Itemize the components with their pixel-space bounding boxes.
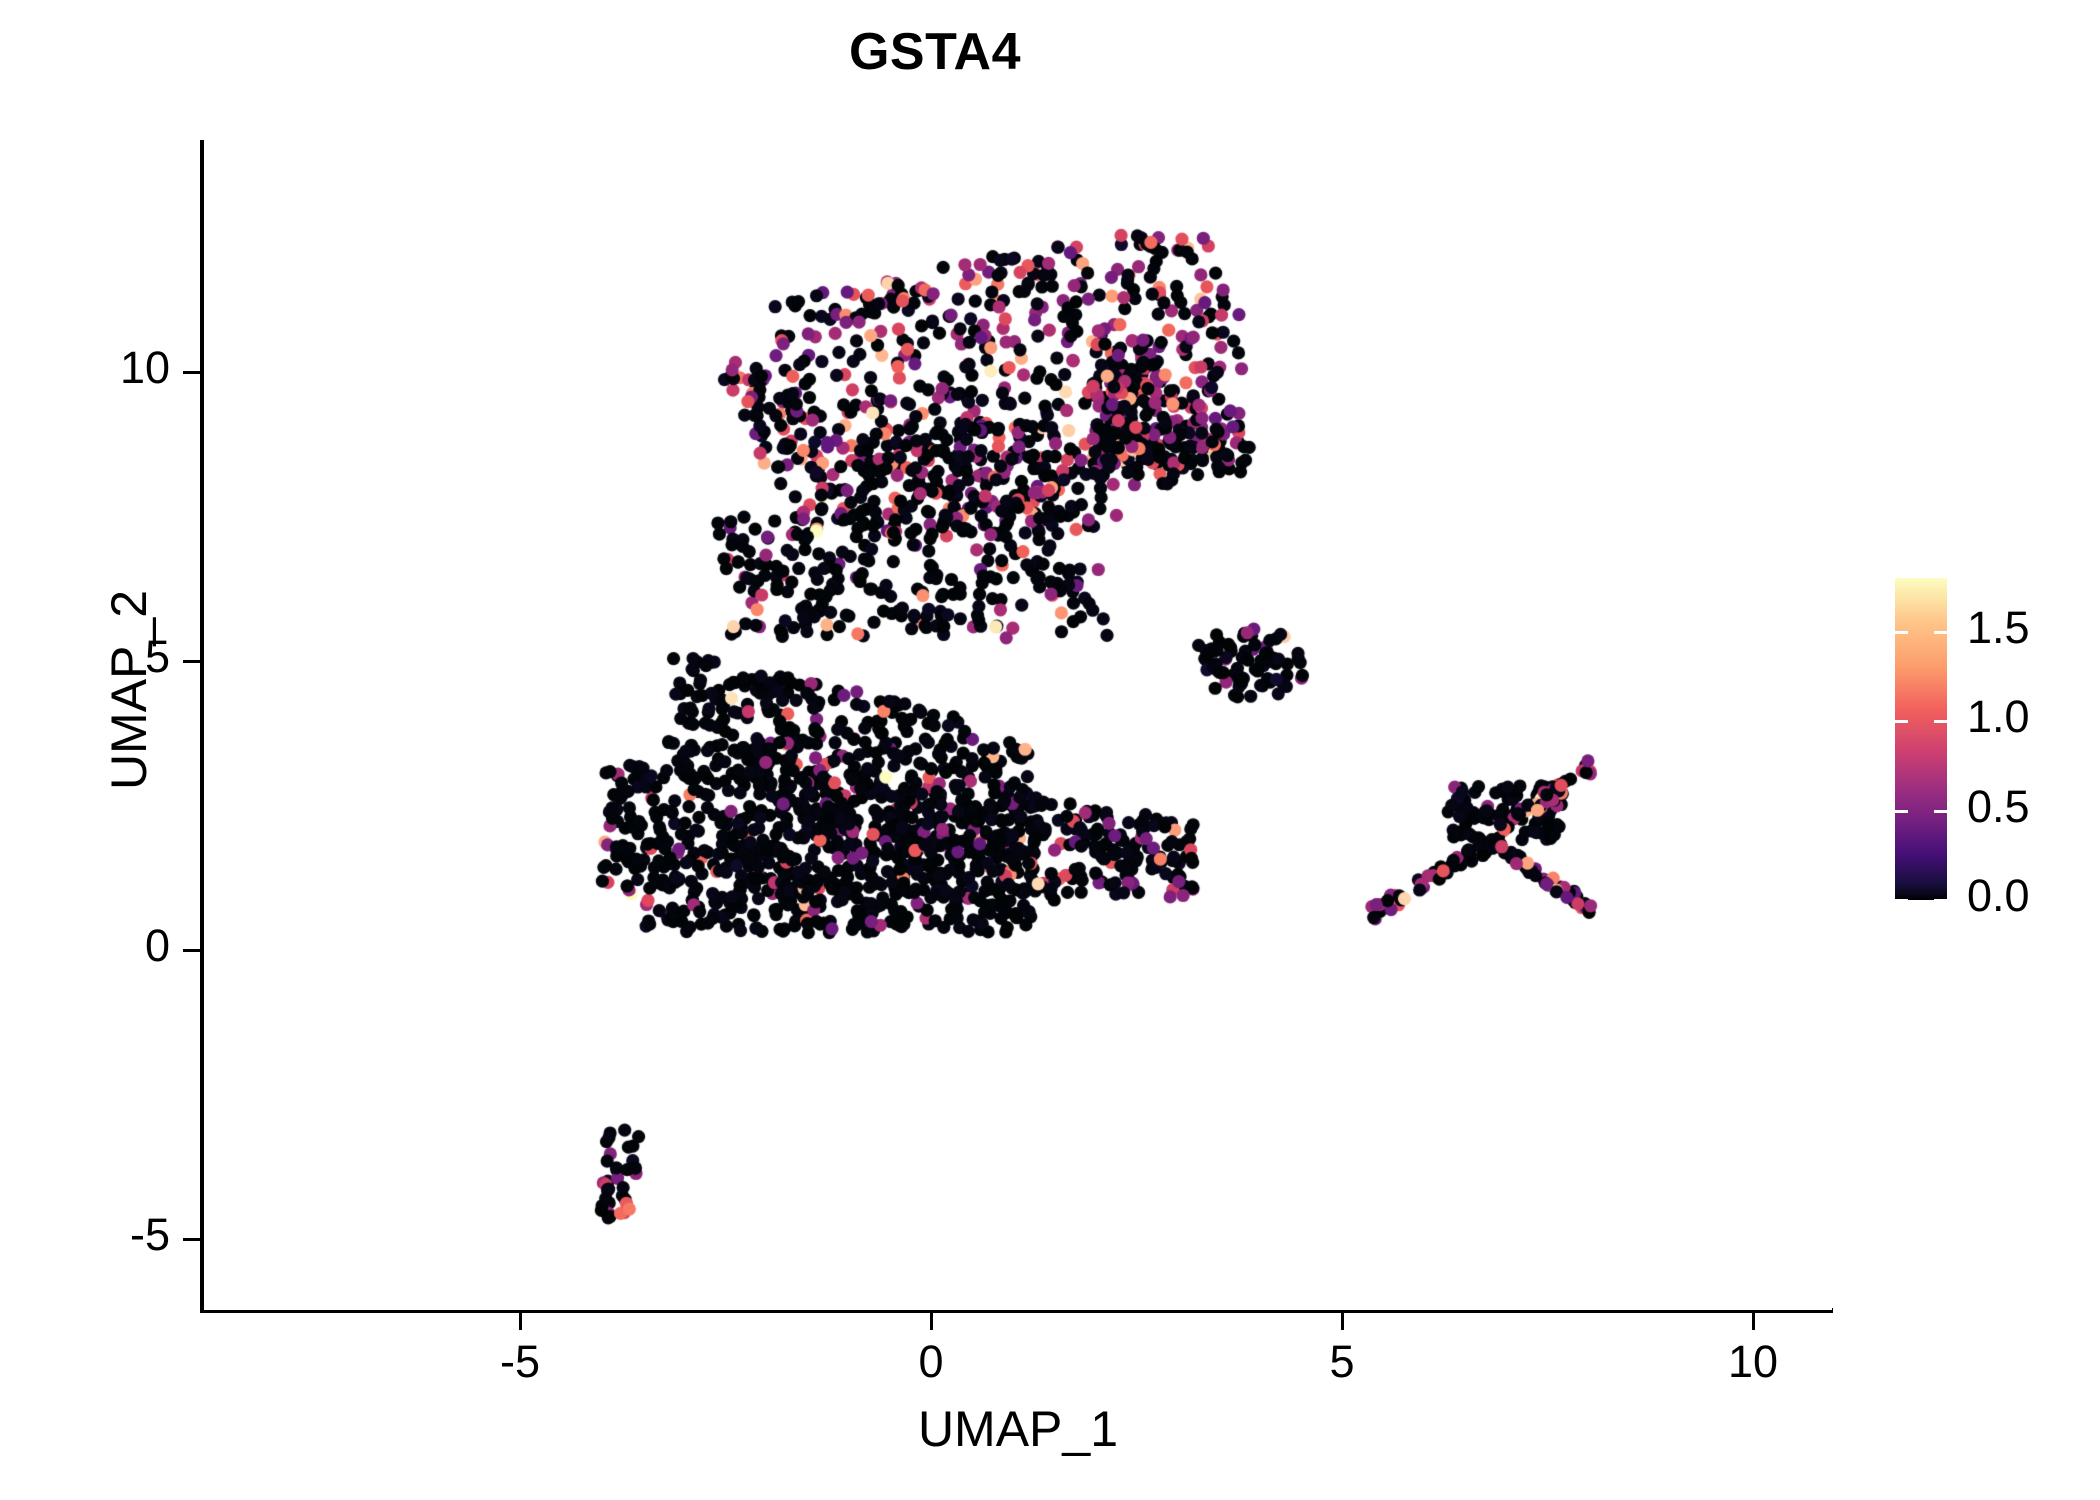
scatter-points-layer	[204, 140, 1832, 1310]
y-tick-mark	[183, 949, 200, 952]
colorbar-gradient	[1895, 578, 1947, 900]
plot-panel	[204, 140, 1832, 1310]
y-tick-label: -5	[0, 1209, 170, 1261]
y-axis-label: UMAP_2	[100, 290, 158, 1090]
x-tick-label: 0	[851, 1336, 1011, 1388]
colorbar-tick-mark	[1934, 899, 1947, 902]
x-tick-label: 15	[2084, 1336, 2100, 1388]
colorbar-tick-label: 0.5	[1967, 781, 2097, 833]
colorbar-tick-mark	[1895, 720, 1908, 723]
x-axis-label: UMAP_1	[204, 1400, 1832, 1458]
colorbar-tick-mark	[1895, 899, 1908, 902]
x-tick-label: -5	[440, 1336, 600, 1388]
x-tick-mark	[930, 1313, 933, 1330]
colorbar-legend: 1.51.00.50.0	[1895, 578, 2085, 908]
umap-feature-plot: GSTA4 -5051015 1050-5 UMAP_1 UMAP_2 1.51…	[0, 0, 2100, 1500]
y-tick-mark	[183, 371, 200, 374]
x-tick-mark	[1341, 1313, 1344, 1330]
colorbar-tick-label: 0.0	[1967, 870, 2097, 922]
x-tick-mark	[519, 1313, 522, 1330]
page-title: GSTA4	[0, 24, 1870, 81]
x-tick-mark	[1752, 1313, 1755, 1330]
x-tick-label: 5	[1262, 1336, 1422, 1388]
y-tick-mark	[183, 660, 200, 663]
colorbar-tick-mark	[1934, 810, 1947, 813]
y-tick-mark	[183, 1238, 200, 1241]
colorbar-tick-mark	[1934, 720, 1947, 723]
colorbar-tick-label: 1.5	[1967, 602, 2097, 654]
colorbar-tick-label: 1.0	[1967, 691, 2097, 743]
colorbar-tick-mark	[1895, 810, 1908, 813]
colorbar-tick-mark	[1895, 631, 1908, 634]
colorbar-tick-mark	[1934, 631, 1947, 634]
x-tick-label: 10	[1673, 1336, 1833, 1388]
